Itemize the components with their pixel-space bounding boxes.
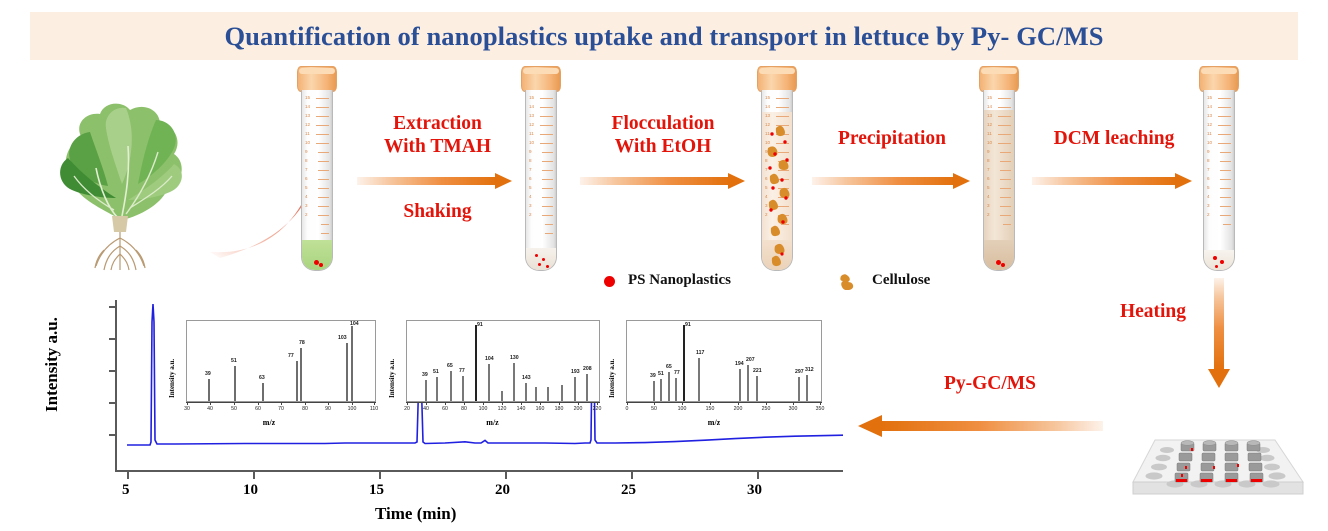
red-dot-icon xyxy=(535,254,538,257)
arrow-shaft xyxy=(880,421,1103,431)
ms-inset-3-frame: 39 51 65 77 91 117 194 207 221 297 312 xyxy=(626,320,822,402)
ms-peak-label: 207 xyxy=(746,357,755,363)
step-sub-label: Shaking xyxy=(403,201,471,222)
ms-peak-label: 91 xyxy=(477,322,483,328)
tube-tip xyxy=(983,240,1015,271)
ms-xtick xyxy=(210,402,211,405)
ms-xtick-label: 70 xyxy=(278,406,284,412)
ms-xtick xyxy=(766,402,767,405)
ms-xtick xyxy=(738,402,739,405)
ms-xtick-label: 200 xyxy=(574,406,583,412)
chromatogram-x-tick xyxy=(757,472,759,479)
ms-xtick xyxy=(187,402,188,405)
ms-peak-label: 63 xyxy=(259,375,265,381)
ms-inset-3-bars xyxy=(627,321,821,401)
step-label-precipitation: Precipitation xyxy=(822,127,962,150)
arrow-head xyxy=(495,173,512,189)
ms-xtick xyxy=(521,402,522,405)
ms-xtick xyxy=(578,402,579,405)
chromatogram-x-tick xyxy=(379,472,381,479)
red-dot-icon xyxy=(542,258,545,261)
ms-inset-3: Intensity a.u. 39 51 65 77 91 117 194 20… xyxy=(600,318,828,436)
ms-xtick xyxy=(281,402,282,405)
tube-5: 15 14 13 12 11 10 9 8 7 6 5 4 3 2 xyxy=(1198,66,1240,271)
lettuce-plant-illustration xyxy=(30,88,210,273)
arrow-head xyxy=(953,173,970,189)
ms-xtick-label: 100 xyxy=(678,406,687,412)
chromatogram-xtick-label: 20 xyxy=(495,482,510,499)
arrow-head xyxy=(858,415,882,437)
chromatogram-xlabel: Time (min) xyxy=(375,504,456,524)
ms-xtick-label: 350 xyxy=(816,406,825,412)
ms-peak-label: 208 xyxy=(583,366,592,372)
tube-1: 15 14 13 12 11 10 9 8 7 6 5 4 3 2 xyxy=(296,66,338,271)
ms-xtick-label: 250 xyxy=(762,406,771,412)
tube-4: 15 14 13 12 11 10 9 8 7 6 5 4 3 2 xyxy=(978,66,1020,271)
tube-tip xyxy=(301,240,333,271)
ms-peak-label: 77 xyxy=(674,370,680,376)
red-dot-icon xyxy=(1220,260,1224,264)
ms-xtick xyxy=(464,402,465,405)
arrow-dcm-leaching xyxy=(1032,173,1192,189)
lettuce-leaves xyxy=(60,104,182,220)
ms-xtick-label: 60 xyxy=(442,406,448,412)
ms-xtick xyxy=(710,402,711,405)
ms-inset-3-ylabel: Intensity a.u. xyxy=(608,359,616,398)
heating-block-tray xyxy=(1125,398,1310,513)
heating-label: Heating xyxy=(1120,301,1186,322)
ms-xtick xyxy=(793,402,794,405)
tube-2: 15 14 13 12 11 10 9 8 7 6 5 4 3 2 xyxy=(520,66,562,271)
red-dot-icon xyxy=(538,263,541,266)
chromatogram-xtick-label: 10 xyxy=(243,482,258,499)
tube-tip xyxy=(1203,240,1235,271)
ms-peak-label: 221 xyxy=(753,368,762,374)
ms-inset-1-frame: 39 51 63 77 78 103 104 xyxy=(186,320,376,402)
ms-peak-label: 103 xyxy=(338,335,347,341)
tube-graduations: 15 14 13 12 11 10 9 8 7 6 5 4 3 2 xyxy=(984,90,1014,240)
arrow-flocculation xyxy=(580,173,745,189)
ms-peak-label: 193 xyxy=(571,369,580,375)
ms-inset-2-xlabel: m/z xyxy=(380,418,605,427)
tube-body: 15 14 13 12 11 10 9 8 7 6 5 4 3 2 xyxy=(983,90,1015,240)
tube-3: 15 14 13 12 11 10 9 8 7 6 5 4 3 2 xyxy=(756,66,798,271)
ms-xtick xyxy=(820,402,821,405)
ms-peak-label: 297 xyxy=(795,369,804,375)
tube-content-precipitate-bottom xyxy=(984,240,1014,271)
chromatogram-x-tick xyxy=(505,472,507,479)
lettuce-stem xyxy=(112,216,128,232)
arrow-head xyxy=(728,173,745,189)
tube-content-residue xyxy=(1204,250,1234,271)
chromatogram-xtick-label: 30 xyxy=(747,482,762,499)
tube-body: 15 14 13 12 11 10 9 8 7 6 5 4 3 2 xyxy=(525,90,557,240)
ms-peak-label: 104 xyxy=(350,321,359,327)
ms-peak-label: 77 xyxy=(459,368,465,374)
ms-xtick-label: 100 xyxy=(348,406,357,412)
ms-peak-label: 51 xyxy=(433,369,439,375)
ms-inset-2-frame: 39 51 65 77 91 104 130 143 193 208 xyxy=(406,320,600,402)
arrow-shaft xyxy=(1214,278,1224,370)
ms-peak-label: 51 xyxy=(231,358,237,364)
ms-inset-1: Intensity a.u. 39 51 63 77 78 103 104 30… xyxy=(160,318,378,436)
ms-peak-label: 77 xyxy=(288,353,294,359)
step-label-heating: Heating xyxy=(1098,300,1208,323)
red-dot-icon xyxy=(1001,263,1005,267)
ms-inset-1-xlabel: m/z xyxy=(160,418,378,427)
lettuce-roots xyxy=(95,232,145,270)
tube-cap xyxy=(1199,66,1239,92)
cellulose-floc-icon xyxy=(838,272,858,290)
red-dot-icon xyxy=(1215,265,1218,268)
step-label-shaking: Shaking xyxy=(360,200,515,223)
arrow-heating xyxy=(1208,278,1230,388)
tube-content-green-pellet xyxy=(302,240,332,271)
step-label-extraction: Extraction With TMAH xyxy=(360,112,515,158)
ms-xtick xyxy=(407,402,408,405)
cellulose-flocs xyxy=(762,90,793,240)
ms-xtick-label: 0 xyxy=(626,406,629,412)
ms-inset-1-bars xyxy=(187,321,375,401)
step-label-flocculation: Flocculation With EtOH xyxy=(583,112,743,158)
ms-xtick xyxy=(654,402,655,405)
arrow-shaft xyxy=(1032,177,1177,185)
ms-xtick-label: 150 xyxy=(706,406,715,412)
cellulose-flocs xyxy=(762,240,793,271)
ms-xtick xyxy=(352,402,353,405)
ms-xtick xyxy=(682,402,683,405)
ms-xtick xyxy=(426,402,427,405)
chromatogram-x-tick xyxy=(127,472,129,479)
chromatogram-x-tick xyxy=(253,472,255,479)
tube-tip xyxy=(761,240,793,271)
tube-cap xyxy=(297,66,337,92)
ms-xtick xyxy=(258,402,259,405)
step-line-1: Flocculation xyxy=(612,113,715,134)
ms-inset-2-bars xyxy=(407,321,599,401)
tube-cap xyxy=(757,66,797,92)
ms-peak-label: 194 xyxy=(735,361,744,367)
ms-xtick xyxy=(627,402,628,405)
page-title: Quantification of nanoplastics uptake an… xyxy=(30,12,1298,60)
ms-xtick xyxy=(445,402,446,405)
ms-xtick-label: 40 xyxy=(207,406,213,412)
tube-graduations: 15 14 13 12 11 10 9 8 7 6 5 4 3 2 xyxy=(302,90,332,240)
step-label-py-gcms: Py-GC/MS xyxy=(920,372,1060,395)
py-gcms-label: Py-GC/MS xyxy=(944,373,1036,394)
ms-xtick-label: 110 xyxy=(370,406,378,412)
tube-body: 15 14 13 12 11 10 9 8 7 6 5 4 3 2 xyxy=(1203,90,1235,240)
ms-peak-label: 39 xyxy=(650,373,656,379)
ms-xtick xyxy=(234,402,235,405)
chromatogram-xtick-label: 15 xyxy=(369,482,384,499)
chromatogram-x-tick xyxy=(631,472,633,479)
ms-xtick xyxy=(502,402,503,405)
tube-tip xyxy=(525,240,557,271)
legend-label-cellulose: Cellulose xyxy=(872,272,930,289)
ms-xtick xyxy=(483,402,484,405)
ms-xtick-label: 100 xyxy=(479,406,488,412)
step-line-2: With TMAH xyxy=(384,136,491,157)
ms-xtick xyxy=(540,402,541,405)
chromatogram-xtick-label: 25 xyxy=(621,482,636,499)
arrow-py-gcms xyxy=(858,415,1103,437)
ms-peak-label: 51 xyxy=(658,371,664,377)
ms-xtick-label: 180 xyxy=(555,406,564,412)
ms-peak-label: 39 xyxy=(205,371,211,377)
ms-peak-label: 65 xyxy=(666,364,672,370)
tube-graduations: 15 14 13 12 11 10 9 8 7 6 5 4 3 2 xyxy=(526,90,556,240)
ms-inset-2: Intensity a.u. 39 51 65 77 xyxy=(380,318,605,436)
ms-xtick xyxy=(305,402,306,405)
ms-xtick xyxy=(374,402,375,405)
ms-xtick-label: 300 xyxy=(789,406,798,412)
step-line-1: Extraction xyxy=(393,113,482,134)
arrow-precipitation xyxy=(812,173,970,189)
red-dot-icon xyxy=(1213,256,1217,260)
tube-body: 15 14 13 12 11 10 9 8 7 6 5 4 3 2 xyxy=(301,90,333,240)
arrow-shaft xyxy=(357,177,497,185)
ms-inset-3-xlabel: m/z xyxy=(600,418,828,427)
arrow-head xyxy=(1208,369,1230,388)
ms-xtick-label: 60 xyxy=(255,406,261,412)
ms-xtick-label: 140 xyxy=(517,406,526,412)
ms-xtick-label: 80 xyxy=(461,406,467,412)
ms-xtick-label: 120 xyxy=(498,406,507,412)
arrow-shaft xyxy=(580,177,730,185)
ms-xtick-label: 90 xyxy=(325,406,331,412)
ms-peak-label: 143 xyxy=(522,375,531,381)
legend-marker-nanoplastics xyxy=(604,276,615,287)
red-dot-icon xyxy=(319,263,323,267)
tube-content-sediment xyxy=(526,248,556,271)
ms-inset-1-ylabel: Intensity a.u. xyxy=(168,359,176,398)
step-line-2: With EtOH xyxy=(615,136,712,157)
ms-xtick-label: 160 xyxy=(536,406,545,412)
tube-cap xyxy=(979,66,1019,92)
arrow-shaft xyxy=(812,177,955,185)
ms-peak-label: 91 xyxy=(685,322,691,328)
ms-xtick-label: 200 xyxy=(734,406,743,412)
ms-xtick xyxy=(597,402,598,405)
ms-xtick-label: 50 xyxy=(651,406,657,412)
ms-xtick-label: 30 xyxy=(184,406,190,412)
ms-inset-2-ylabel: Intensity a.u. xyxy=(388,359,396,398)
legend-label-nanoplastics: PS Nanoplastics xyxy=(628,272,731,289)
tube-body: 15 14 13 12 11 10 9 8 7 6 5 4 3 2 xyxy=(761,90,793,240)
ms-peak-label: 78 xyxy=(299,340,305,346)
step-line-1: Precipitation xyxy=(838,128,946,149)
ms-xtick-label: 50 xyxy=(231,406,237,412)
ms-xtick xyxy=(559,402,560,405)
ms-peak-label: 312 xyxy=(805,367,814,373)
ms-inset-2-axis xyxy=(406,402,600,403)
step-line-1: DCM leaching xyxy=(1054,128,1175,149)
arrow-extraction xyxy=(357,173,512,189)
ms-peak-label: 65 xyxy=(447,363,453,369)
step-label-dcm-leaching: DCM leaching xyxy=(1034,127,1194,150)
ms-xtick xyxy=(328,402,329,405)
tube-cap xyxy=(521,66,561,92)
red-dot-icon xyxy=(546,265,549,268)
tube-graduations: 15 14 13 12 11 10 9 8 7 6 5 4 3 2 xyxy=(1204,90,1234,240)
ms-peak-label: 130 xyxy=(510,355,519,361)
chromatogram-xtick-label: 5 xyxy=(122,482,130,499)
ms-xtick-label: 20 xyxy=(404,406,410,412)
ms-peak-label: 39 xyxy=(422,372,428,378)
ms-xtick-label: 80 xyxy=(302,406,308,412)
ms-peak-label: 117 xyxy=(696,350,704,356)
arrow-head xyxy=(1175,173,1192,189)
ms-xtick-label: 40 xyxy=(423,406,429,412)
ms-peak-label: 104 xyxy=(485,356,494,362)
